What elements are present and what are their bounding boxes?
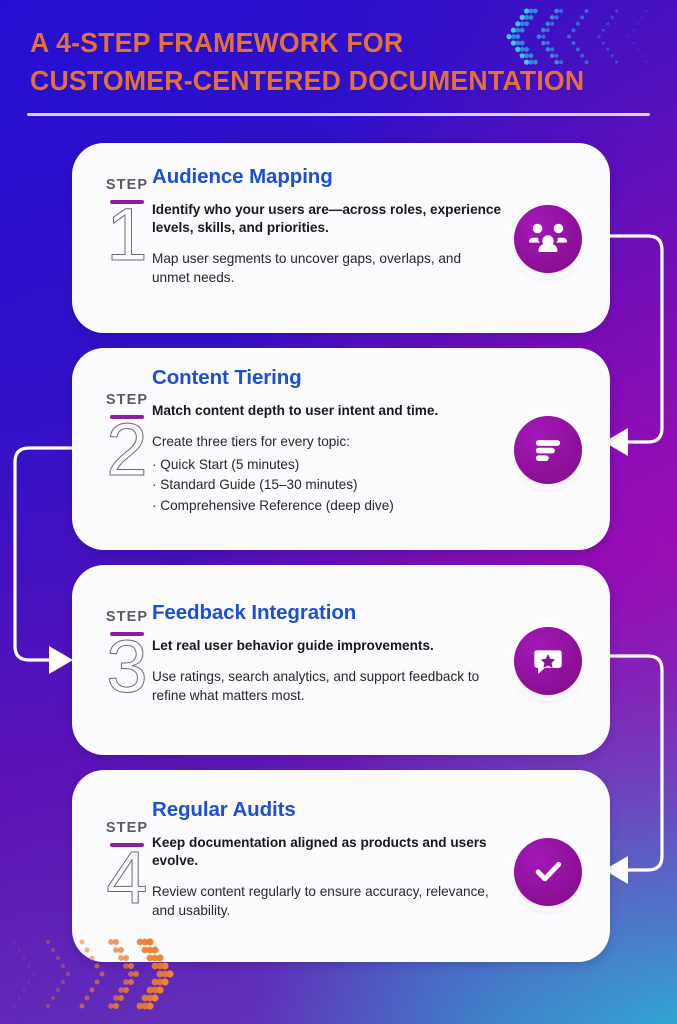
step-lead: Let real user behavior guide improvement… (152, 637, 512, 655)
step-title: Content Tiering (152, 366, 532, 390)
chat-star-icon (514, 627, 582, 695)
tier-bars-icon (514, 416, 582, 484)
check-circle-icon (514, 838, 582, 906)
step-body: Feedback Integration Let real user behav… (152, 601, 512, 705)
step-card[interactable]: STEP 3 Feedback Integration Let real use… (72, 565, 610, 755)
step-description: Use ratings, search analytics, and suppo… (152, 668, 512, 705)
step-bullet-list: · Quick Start (5 minutes) · Standard Gui… (152, 455, 532, 517)
list-item: · Quick Start (5 minutes) (152, 455, 532, 476)
step-card[interactable]: STEP 2 Content Tiering Match content dep… (72, 348, 610, 550)
list-item: · Comprehensive Reference (deep dive) (152, 496, 532, 517)
infographic-poster: A 4-STEP FRAMEWORK FOR CUSTOMER-CENTERED… (0, 0, 677, 1024)
step-body: Regular Audits Keep documentation aligne… (152, 798, 512, 920)
step-title: Audience Mapping (152, 165, 502, 189)
step-body: Content Tiering Match content depth to u… (152, 366, 532, 516)
users-group-icon (514, 205, 582, 273)
chevron-dots-footer-icon (0, 928, 210, 1024)
step-description: Review content regularly to ensure accur… (152, 883, 512, 920)
step-description: Map user segments to uncover gaps, overl… (152, 250, 502, 287)
step-lead: Identify who your users are—across roles… (152, 201, 502, 237)
list-item: · Standard Guide (15–30 minutes) (152, 475, 532, 496)
step-card[interactable]: STEP 1 Audience Mapping Identify who you… (72, 143, 610, 333)
step-card-list: STEP 1 Audience Mapping Identify who you… (0, 0, 677, 1024)
step-lead: Match content depth to user intent and t… (152, 402, 532, 420)
step-lead: Keep documentation aligned as products a… (152, 834, 512, 870)
step-title: Regular Audits (152, 798, 512, 822)
step-body: Audience Mapping Identify who your users… (152, 165, 502, 287)
step-title: Feedback Integration (152, 601, 512, 625)
step-description: Create three tiers for every topic: (152, 433, 532, 452)
